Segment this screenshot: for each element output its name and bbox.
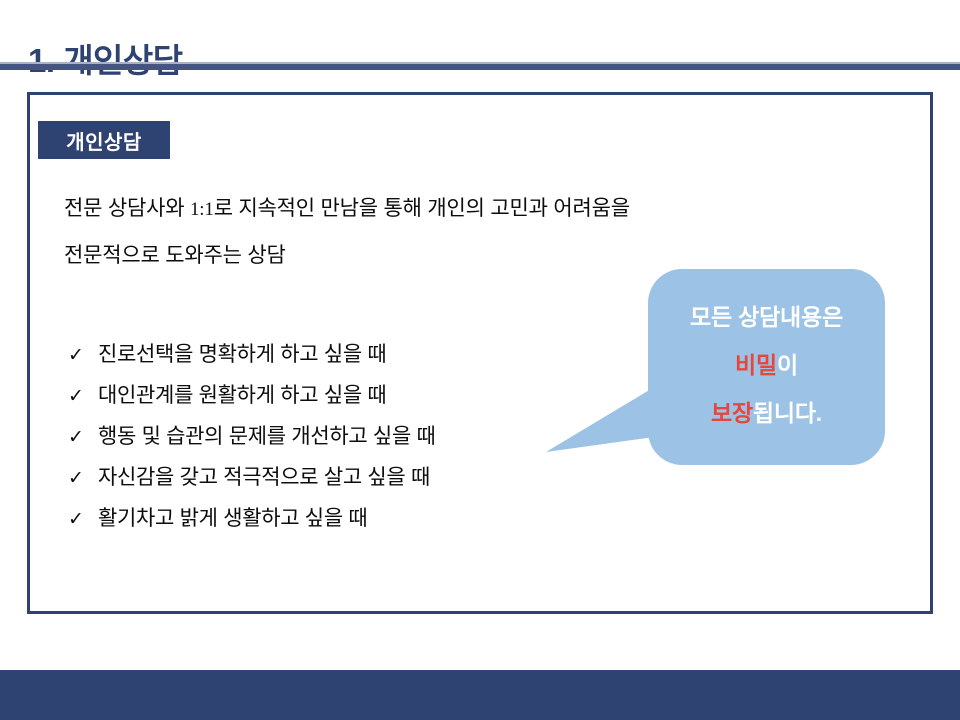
description-line-1: 전문 상담사와 1:1로 지속적인 만남을 통해 개인의 고민과 어려움을 bbox=[64, 186, 684, 233]
footer-bar bbox=[0, 670, 960, 720]
title-divider bbox=[0, 62, 960, 70]
description-line-1-part-a: 전문 상담사와 bbox=[64, 197, 190, 220]
list-item: ✓ 진로선택을 명확하게 하고 싶을 때 bbox=[68, 338, 608, 379]
page-title: 1. 개인상담 bbox=[28, 41, 183, 81]
check-icon: ✓ bbox=[68, 385, 98, 408]
list-item-label: 대인관계를 원활하게 하고 싶을 때 bbox=[98, 379, 386, 409]
check-icon: ✓ bbox=[68, 344, 98, 367]
check-icon: ✓ bbox=[68, 508, 98, 531]
speech-bubble-callout: 모든 상담내용은 비밀이 보장됩니다. bbox=[648, 269, 885, 465]
list-item: ✓ 행동 및 습관의 문제를 개선하고 싶을 때 bbox=[68, 420, 608, 461]
description-line-2: 전문적으로 도와주는 상담 bbox=[64, 233, 684, 279]
slide-canvas: 1. 개인상담 개인상담 전문 상담사와 1:1로 지속적인 만남을 통해 개인… bbox=[0, 0, 960, 720]
benefits-list: ✓ 진로선택을 명확하게 하고 싶을 때 ✓ 대인관계를 원활하게 하고 싶을 … bbox=[68, 338, 608, 543]
speech-bubble-body: 모든 상담내용은 비밀이 보장됩니다. bbox=[648, 269, 885, 465]
callout-line-2: 비밀이 bbox=[735, 341, 798, 389]
callout-line-3: 보장됩니다. bbox=[711, 389, 822, 437]
list-item-label: 활기차고 밝게 생활하고 싶을 때 bbox=[98, 502, 367, 532]
list-item: ✓ 자신감을 갖고 적극적으로 살고 싶을 때 bbox=[68, 461, 608, 502]
callout-line-3-rest: 됩니다. bbox=[753, 400, 822, 426]
check-icon: ✓ bbox=[68, 467, 98, 490]
description-text: 전문 상담사와 1:1로 지속적인 만남을 통해 개인의 고민과 어려움을 전문… bbox=[64, 186, 684, 279]
list-item-label: 자신감을 갖고 적극적으로 살고 싶을 때 bbox=[98, 461, 430, 491]
list-item-label: 행동 및 습관의 문제를 개선하고 싶을 때 bbox=[98, 420, 436, 450]
callout-line-2-rest: 이 bbox=[777, 352, 798, 378]
section-badge: 개인상담 bbox=[38, 121, 170, 159]
description-line-1-part-b: 로 지속적인 만남을 통해 개인의 고민과 어려움을 bbox=[214, 197, 630, 220]
list-item-label: 진로선택을 명확하게 하고 싶을 때 bbox=[98, 338, 386, 368]
ratio-label: 1:1 bbox=[190, 199, 214, 220]
callout-line-1: 모든 상담내용은 bbox=[690, 293, 843, 341]
list-item: ✓ 활기차고 밝게 생활하고 싶을 때 bbox=[68, 502, 608, 543]
check-icon: ✓ bbox=[68, 426, 98, 449]
list-item: ✓ 대인관계를 원활하게 하고 싶을 때 bbox=[68, 379, 608, 420]
callout-highlight-secret: 비밀 bbox=[735, 352, 777, 378]
callout-highlight-guarantee: 보장 bbox=[711, 400, 753, 426]
